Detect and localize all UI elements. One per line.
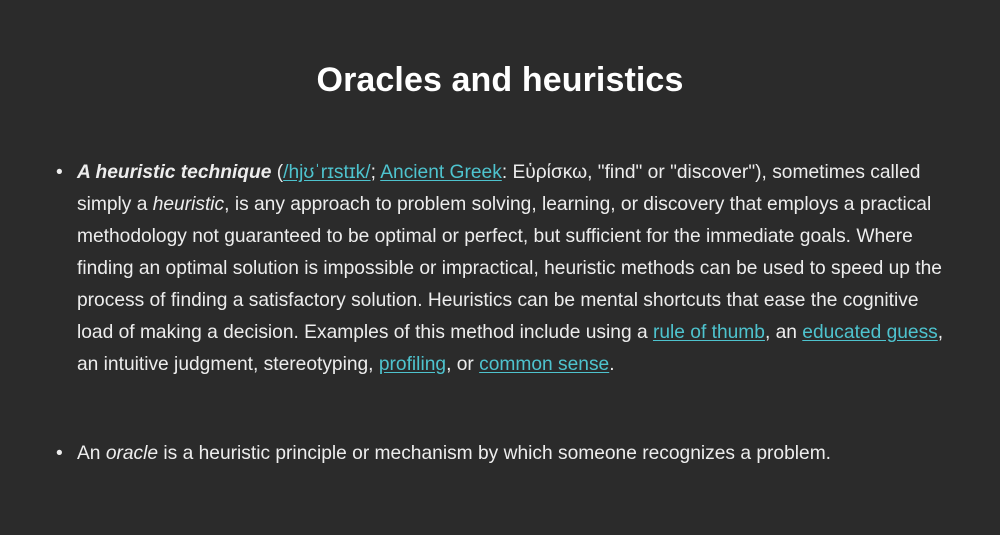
body-text-part-2: , is any approach to problem solving, le… bbox=[77, 194, 942, 343]
body-text-part-6: . bbox=[609, 354, 614, 375]
slide-body: • A heuristic technique (/hjʊˈrɪstɪk/; A… bbox=[50, 157, 955, 470]
link-common-sense[interactable]: common sense bbox=[479, 354, 609, 375]
bullet-marker-icon: • bbox=[56, 438, 70, 470]
separator-semicolon: ; bbox=[371, 162, 381, 183]
list-item: • An oracle is a heuristic principle or … bbox=[50, 438, 955, 470]
open-paren: ( bbox=[271, 162, 283, 183]
body-text-part-5: , or bbox=[446, 354, 479, 375]
italic-oracle: oracle bbox=[106, 443, 158, 464]
body-text-part-3: , an bbox=[765, 322, 802, 343]
slide-canvas: Oracles and heuristics • A heuristic tec… bbox=[0, 0, 1000, 535]
oracle-lead-text: An bbox=[77, 443, 106, 464]
bullet-marker-icon: • bbox=[56, 157, 70, 189]
link-educated-guess[interactable]: educated guess bbox=[802, 322, 937, 343]
link-ipa-pronunciation[interactable]: /hjʊˈrɪstɪk/ bbox=[283, 162, 370, 183]
term-heuristic-technique: A heuristic technique bbox=[77, 162, 271, 183]
oracle-rest-text: is a heuristic principle or mechanism by… bbox=[158, 443, 831, 464]
link-ancient-greek[interactable]: Ancient Greek bbox=[380, 162, 502, 183]
bullet-text-heuristic-technique: A heuristic technique (/hjʊˈrɪstɪk/; Anc… bbox=[77, 157, 955, 381]
page-title: Oracles and heuristics bbox=[0, 58, 1000, 102]
bullet-text-oracle: An oracle is a heuristic principle or me… bbox=[77, 438, 955, 470]
link-profiling[interactable]: profiling bbox=[379, 354, 446, 375]
italic-heuristic: heuristic bbox=[153, 194, 224, 215]
list-item: • A heuristic technique (/hjʊˈrɪstɪk/; A… bbox=[50, 157, 955, 381]
link-rule-of-thumb[interactable]: rule of thumb bbox=[653, 322, 765, 343]
